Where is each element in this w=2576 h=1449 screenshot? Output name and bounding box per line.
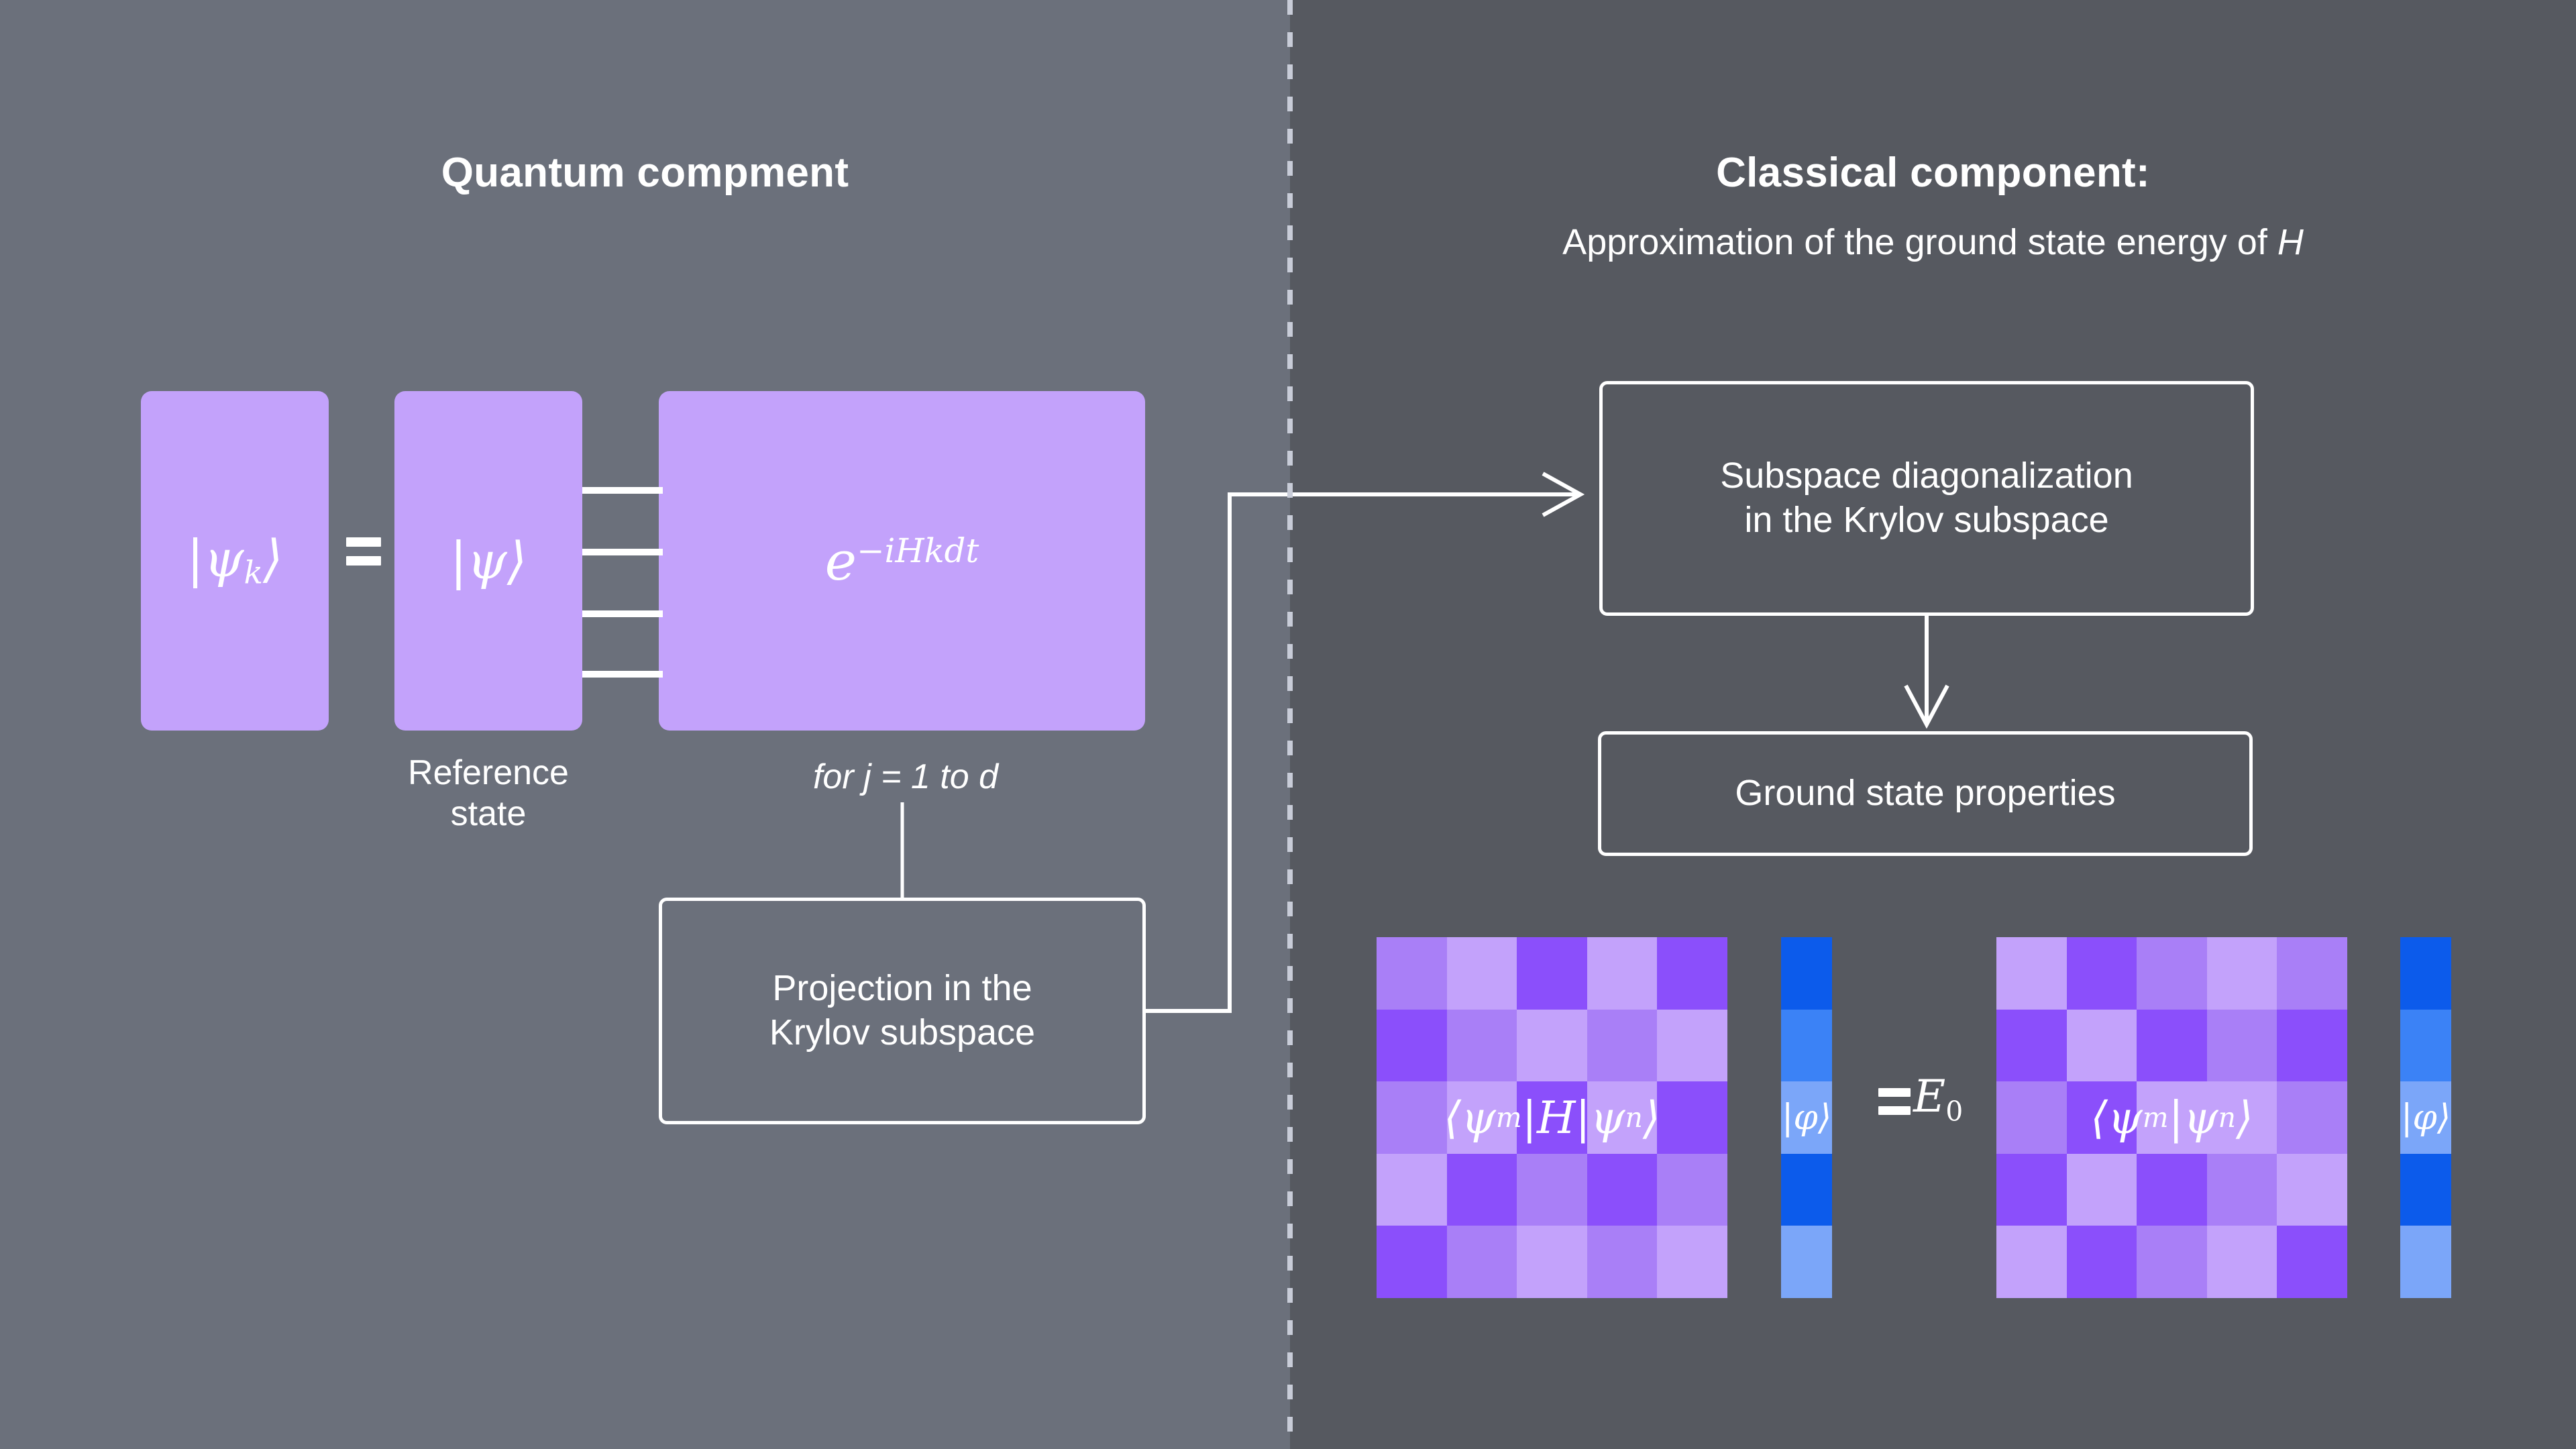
matrix-cell	[2400, 1154, 2451, 1226]
matrix-cell	[1996, 1226, 2067, 1298]
diagram-canvas: Quantum compment Classical component: Ap…	[0, 0, 2576, 1449]
matrix-cell	[1781, 1010, 1832, 1082]
matrix-cell	[1517, 937, 1587, 1010]
matrix-cell	[2277, 1010, 2347, 1082]
matrix-cell	[2207, 1154, 2277, 1226]
eigenvector-left	[1781, 937, 1832, 1298]
matrix-cell	[1657, 1010, 1727, 1082]
matrix-cell	[2067, 1081, 2137, 1154]
classical-panel-subtitle: Approximation of the ground state energy…	[1290, 221, 2576, 263]
matrix-cell	[1587, 1010, 1658, 1082]
reference-state-label: |ψ⟩	[450, 535, 527, 586]
subspace-diagonalization-label: Subspace diagonalization in the Krylov s…	[1720, 454, 2133, 543]
matrix-cell	[2137, 1010, 2207, 1082]
matrix-cell	[2137, 1154, 2207, 1226]
hamiltonian-matrix	[1377, 937, 1727, 1298]
matrix-cell	[1657, 1154, 1727, 1226]
matrix-cell	[1781, 1226, 1832, 1298]
matrix-cell	[1996, 1010, 2067, 1082]
matrix-cell	[1781, 1154, 1832, 1226]
matrix-cell	[1377, 1226, 1447, 1298]
classical-panel-title: Classical component:	[1290, 149, 2576, 197]
projection-box[interactable]: Projection in the Krylov subspace	[659, 898, 1146, 1124]
matrix-cell	[1377, 1081, 1447, 1154]
panel-divider	[1287, 0, 1293, 1449]
matrix-cell	[2137, 1226, 2207, 1298]
matrix-cell	[1377, 937, 1447, 1010]
eigenvector-right	[2400, 937, 2451, 1298]
matrix-cell	[2207, 1226, 2277, 1298]
matrix-cell	[1517, 1010, 1587, 1082]
krylov-state-gate[interactable]: |ψk⟩	[141, 391, 329, 731]
matrix-cell	[1657, 1081, 1727, 1154]
matrix-cell	[2137, 937, 2207, 1010]
matrix-cell	[1587, 1154, 1658, 1226]
quantum-panel-title: Quantum compment	[0, 149, 1290, 197]
reference-state-gate[interactable]: |ψ⟩	[394, 391, 582, 731]
matrix-cell	[1517, 1081, 1587, 1154]
matrix-cell	[2277, 937, 2347, 1010]
eigenvalue-label: E0	[1913, 1071, 1963, 1128]
time-evolution-gate[interactable]: e−iHkdt	[659, 391, 1145, 731]
qubit-wire	[582, 610, 663, 617]
matrix-cell	[1996, 937, 2067, 1010]
matrix-cell	[2400, 1010, 2451, 1082]
matrix-cell	[1781, 1081, 1832, 1154]
matrix-cell	[2277, 1226, 2347, 1298]
matrix-cell	[1377, 1010, 1447, 1082]
matrix-cell	[1447, 1081, 1517, 1154]
eigenvalue-equals-sign	[1878, 1088, 1911, 1115]
ground-state-properties-box[interactable]: Ground state properties	[1598, 731, 2253, 856]
matrix-cell	[2277, 1081, 2347, 1154]
projection-box-label: Projection in the Krylov subspace	[769, 967, 1035, 1055]
classical-subtitle-text: Approximation of the ground state energy…	[1562, 222, 2277, 262]
matrix-cell	[1587, 937, 1658, 1010]
matrix-cell	[1447, 1226, 1517, 1298]
ground-state-properties-label: Ground state properties	[1735, 771, 2115, 816]
subspace-diagonalization-box[interactable]: Subspace diagonalization in the Krylov s…	[1599, 381, 2254, 616]
matrix-cell	[1657, 937, 1727, 1010]
matrix-cell	[1781, 937, 1832, 1010]
matrix-cell	[1587, 1081, 1658, 1154]
time-evolution-label: e−iHkdt	[825, 530, 979, 592]
matrix-cell	[1996, 1154, 2067, 1226]
circuit-equals-sign	[346, 537, 381, 566]
matrix-cell	[1587, 1226, 1658, 1298]
matrix-cell	[2207, 937, 2277, 1010]
matrix-cell	[2400, 937, 2451, 1010]
matrix-cell	[1517, 1226, 1587, 1298]
matrix-cell	[2207, 1081, 2277, 1154]
matrix-cell	[2067, 1226, 2137, 1298]
matrix-cell	[1377, 1154, 1447, 1226]
matrix-cell	[2400, 1226, 2451, 1298]
hamiltonian-symbol: H	[2277, 222, 2304, 262]
matrix-cell	[2067, 1154, 2137, 1226]
qubit-wire	[582, 549, 663, 555]
matrix-cell	[1996, 1081, 2067, 1154]
loop-caption: for j = 1 to d	[711, 757, 1100, 798]
matrix-cell	[1517, 1154, 1587, 1226]
qubit-wire	[582, 487, 663, 494]
matrix-cell	[2067, 1010, 2137, 1082]
matrix-cell	[1657, 1226, 1727, 1298]
matrix-cell	[2067, 937, 2137, 1010]
matrix-cell	[1447, 1154, 1517, 1226]
matrix-cell	[2137, 1081, 2207, 1154]
overlap-matrix	[1996, 937, 2347, 1298]
matrix-cell	[2277, 1154, 2347, 1226]
krylov-state-label: |ψk⟩	[186, 533, 282, 588]
matrix-cell	[1447, 1010, 1517, 1082]
matrix-cell	[2207, 1010, 2277, 1082]
matrix-cell	[2400, 1081, 2451, 1154]
matrix-cell	[1447, 937, 1517, 1010]
qubit-wire	[582, 671, 663, 678]
reference-state-caption: Reference state	[341, 753, 636, 835]
